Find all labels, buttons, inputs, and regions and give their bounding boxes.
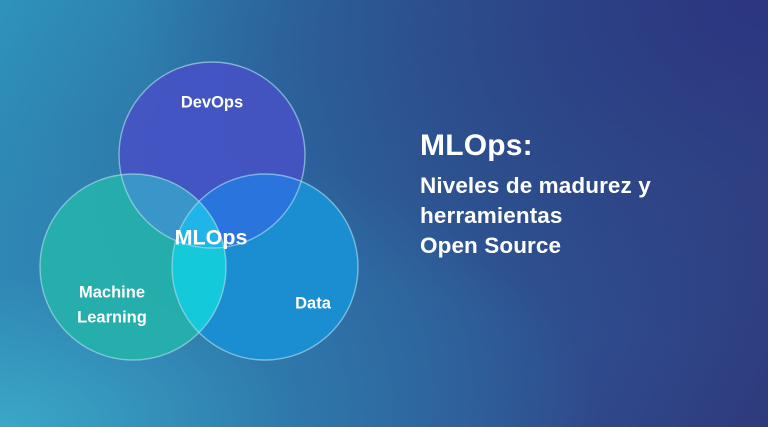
venn-label-data: Data — [295, 294, 332, 312]
subtitle-line-1: Niveles de madurez y — [420, 171, 750, 201]
slide-canvas: DevOps Machine Learning Data MLOps MLOps… — [0, 0, 768, 427]
mlops-venn-diagram: DevOps Machine Learning Data MLOps — [28, 48, 376, 378]
page-title: MLOps: — [420, 128, 750, 163]
venn-label-center-mlops: MLOps — [175, 226, 248, 250]
venn-label-machine-learning-line2: Learning — [77, 308, 147, 326]
venn-label-devops: DevOps — [181, 93, 243, 111]
venn-svg: DevOps Machine Learning Data MLOps — [28, 48, 376, 378]
venn-label-machine-learning-line1: Machine — [79, 283, 145, 301]
page-subtitle: Niveles de madurez y herramientas Open S… — [420, 171, 750, 260]
subtitle-line-3: Open Source — [420, 231, 750, 261]
subtitle-line-2: herramientas — [420, 201, 750, 231]
title-block: MLOps: Niveles de madurez y herramientas… — [420, 128, 750, 260]
